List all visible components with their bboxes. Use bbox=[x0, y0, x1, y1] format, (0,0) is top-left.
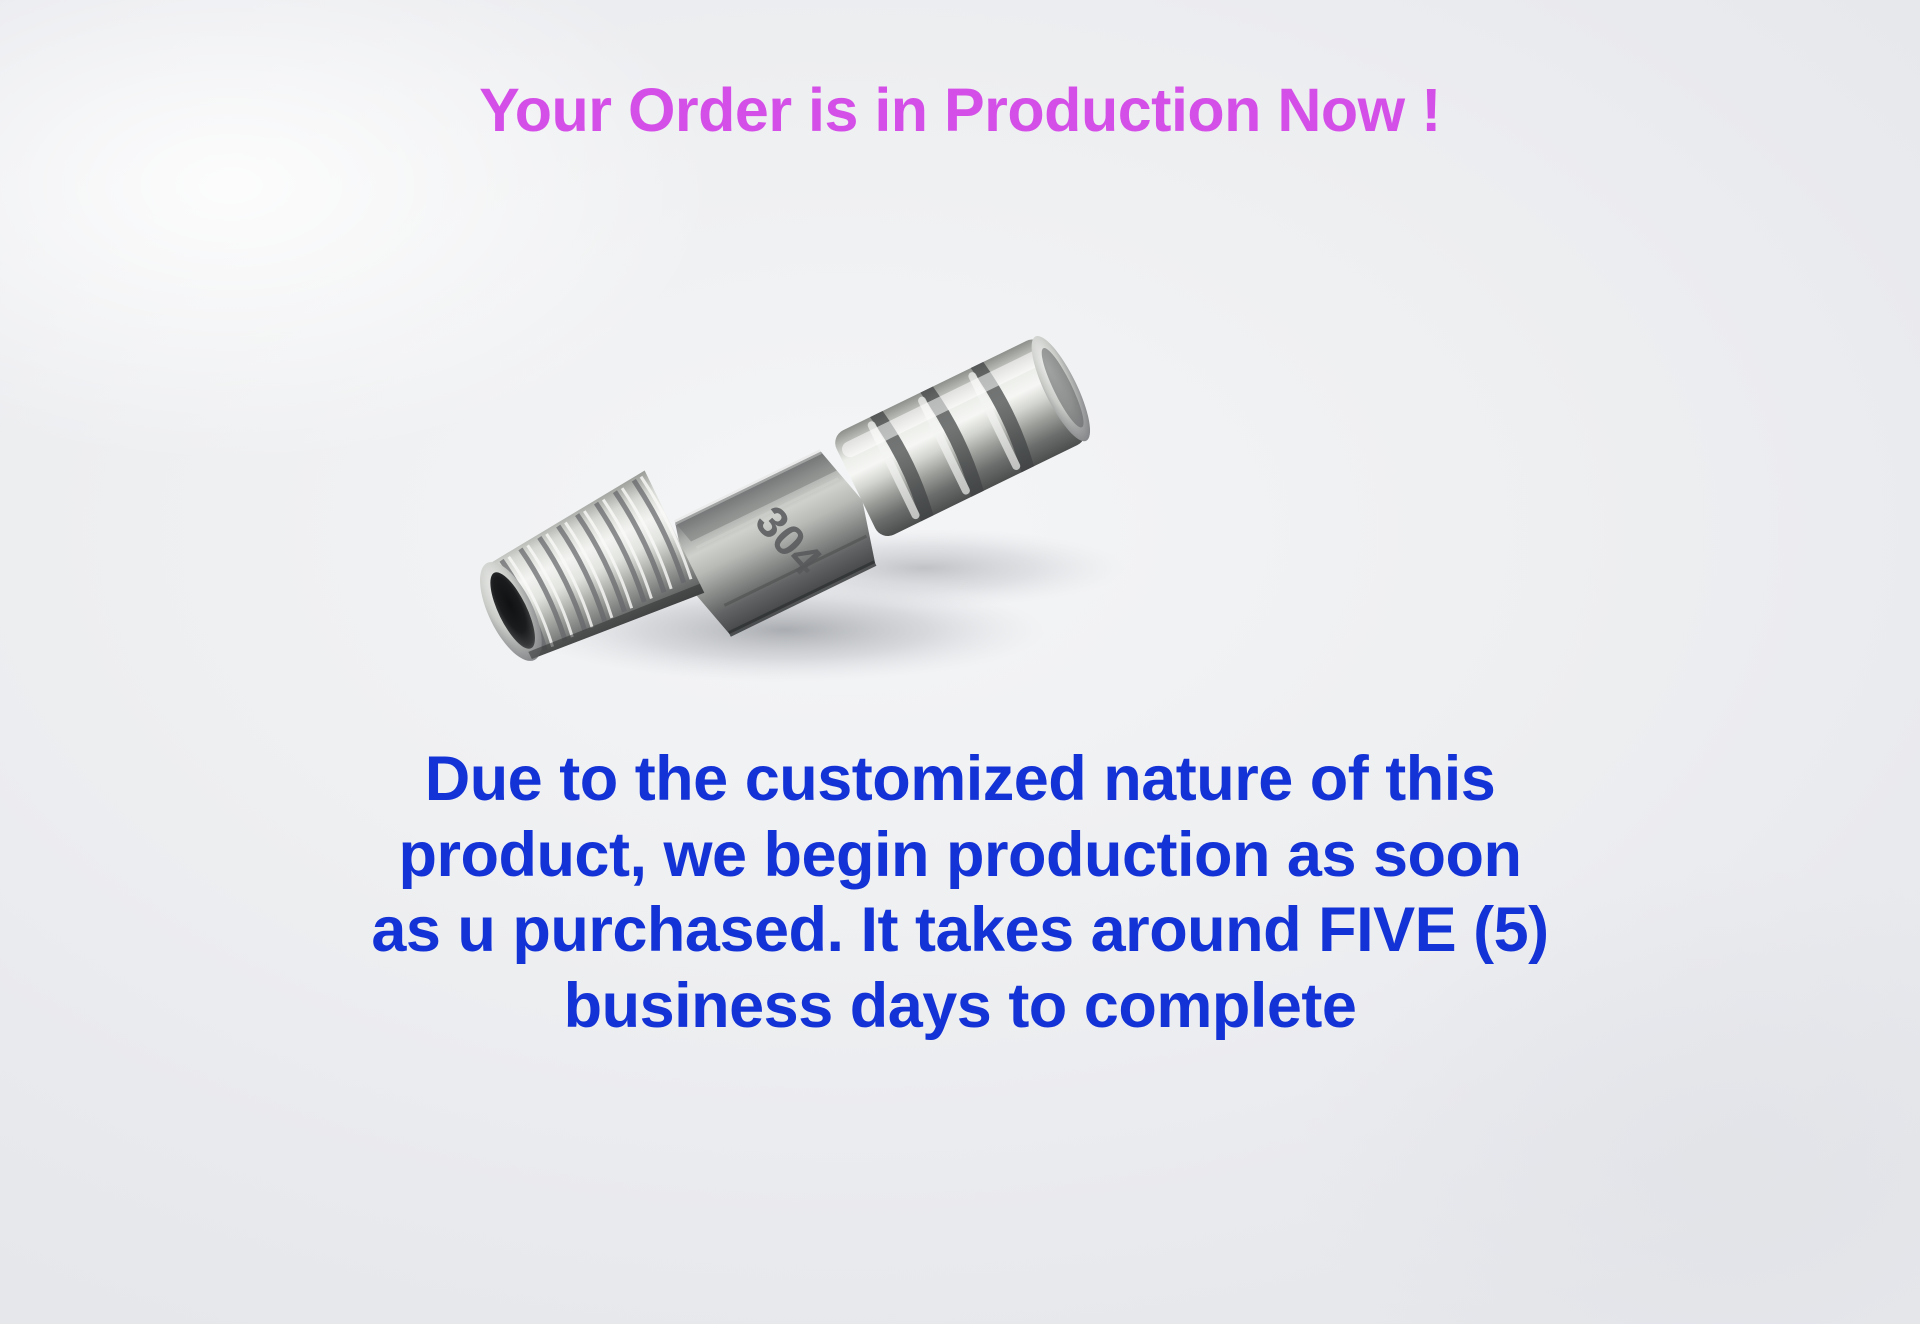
promo-image-canvas: Your Order is in Production Now ! bbox=[0, 0, 1920, 1324]
body-line-1: Due to the customized nature of this bbox=[0, 742, 1920, 818]
body-line-3: as u purchased. It takes around FIVE (5) bbox=[0, 893, 1920, 969]
headline-text: Your Order is in Production Now ! bbox=[0, 78, 1920, 142]
body-line-2: product, we begin production as soon bbox=[0, 818, 1920, 894]
body-copy: Due to the customized nature of this pro… bbox=[0, 742, 1920, 1044]
product-photo: 304 bbox=[455, 300, 1155, 740]
body-line-4: business days to complete bbox=[0, 969, 1920, 1045]
